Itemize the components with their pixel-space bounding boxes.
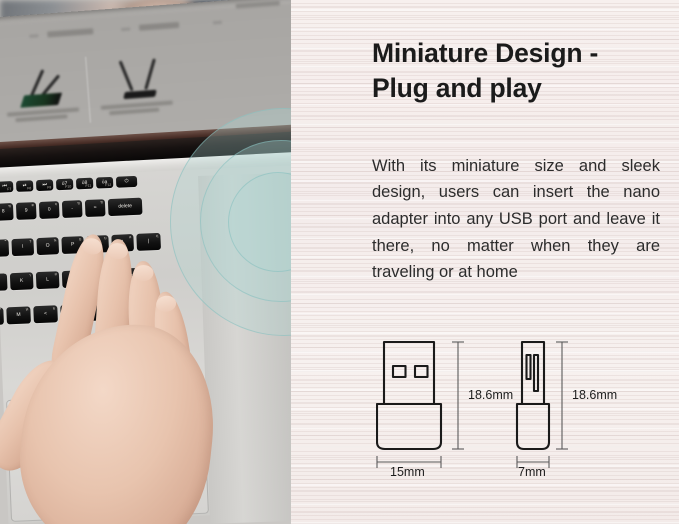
side-height-label: 18.6mm [572,388,617,402]
side-width-label: 7mm [518,465,546,479]
front-height-label: 18.6mm [468,388,513,402]
key-fn-label: F8 [27,187,31,191]
key-fn-label: F7 [7,188,11,192]
front-width-label: 15mm [390,465,425,479]
side-view-slit-left [527,355,531,379]
key-[interactable]: ⏭F9 [36,179,53,191]
title-line-1: Miniature Design - [372,38,598,68]
key-fn-label: F12 [105,183,111,187]
key-[interactable]: ⏮F7 [0,181,13,193]
fingernail [81,236,104,256]
key-thai-label: ช [100,200,103,204]
side-view-body [517,404,549,449]
laptop-photo: ⏮F7⏯F8⏭F9ὐ7F10ὐ8F11ὐaF12⏻ 8ฃ9ต0จ-ข=ชdele… [0,0,291,524]
front-view-contact-left [393,366,406,377]
wifi-signal-waves [250,90,291,350]
key-a[interactable]: ὐaF12 [96,177,113,189]
page-title: Miniature Design - Plug and play [372,36,667,106]
key-8[interactable]: ὐ8F11 [76,178,93,190]
key-label: ⏻ [125,179,129,184]
screen-divider [121,27,130,31]
palm [10,314,223,524]
key-fn-label: F10 [65,185,71,189]
key-7[interactable]: ὐ7F10 [56,179,73,191]
fingernail [155,294,177,313]
fingernail [107,242,128,259]
body-paragraph: With its miniature size and sleek design… [372,153,660,287]
key-[interactable]: ⏻ [116,176,137,188]
dimension-diagram: 18.6mm 15mm 18.6mm 7mm [376,338,606,488]
front-view-body [377,404,441,449]
title-line-2: Plug and play [372,73,542,103]
fingernail [133,265,154,282]
side-view-slit-right [534,355,538,391]
front-view-contact-right [415,366,428,377]
screen-divider [213,21,222,25]
key-fn-label: F9 [47,186,51,190]
product-poster: ⏮F7⏯F8⏭F9ὐ7F10ὐ8F11ὐaF12⏻ 8ฃ9ต0จ-ข=ชdele… [0,0,679,524]
key-[interactable]: ⏯F8 [16,180,33,192]
key-fn-label: F11 [85,184,91,188]
